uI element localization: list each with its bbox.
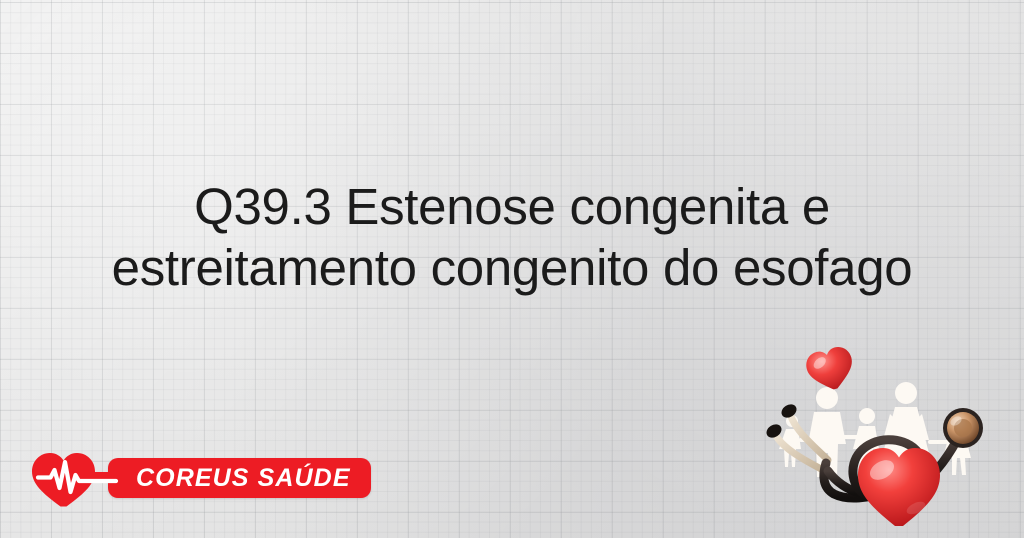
large-heart-icon bbox=[858, 448, 940, 526]
brand-name-label: COREUS SAÚDE bbox=[136, 464, 351, 493]
page-title: Q39.3 Estenose congenita e estreitamento… bbox=[0, 176, 1024, 298]
icd-code-banner-card: Q39.3 Estenose congenita e estreitamento… bbox=[0, 0, 1024, 538]
small-heart-icon bbox=[803, 344, 857, 394]
medical-collage bbox=[766, 342, 1016, 532]
brand-logo: COREUS SAÚDE bbox=[30, 448, 371, 508]
heart-pulse-icon bbox=[30, 448, 122, 508]
brand-name-badge: COREUS SAÚDE bbox=[108, 458, 371, 498]
